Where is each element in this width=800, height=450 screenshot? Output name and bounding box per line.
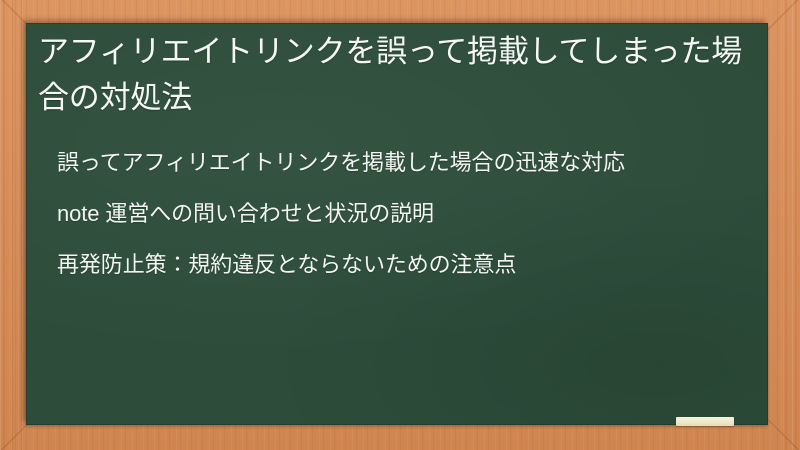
- eyecatch-canvas: アフィリエイトリンクを誤って掲載してしまった場合の対処法 誤ってアフィリエイトリ…: [0, 0, 800, 450]
- topic-item: 再発防止策：規約違反とならないための注意点: [57, 248, 747, 282]
- chalkboard-content: アフィリエイトリンクを誤って掲載してしまった場合の対処法 誤ってアフィリエイトリ…: [26, 23, 768, 425]
- chalk-stick: [676, 417, 734, 426]
- topic-list: 誤ってアフィリエイトリンクを掲載した場合の迅速な対応 note 運営への問い合わ…: [57, 146, 747, 282]
- board-title: アフィリエイトリンクを誤って掲載してしまった場合の対処法: [38, 29, 756, 121]
- frame-right-stile: [774, 0, 800, 450]
- chalkboard: アフィリエイトリンクを誤って掲載してしまった場合の対処法 誤ってアフィリエイトリ…: [26, 23, 768, 425]
- topic-item: 誤ってアフィリエイトリンクを掲載した場合の迅速な対応: [57, 146, 747, 180]
- frame-left-stile: [0, 0, 26, 450]
- topic-item: note 運営への問い合わせと状況の説明: [57, 197, 747, 231]
